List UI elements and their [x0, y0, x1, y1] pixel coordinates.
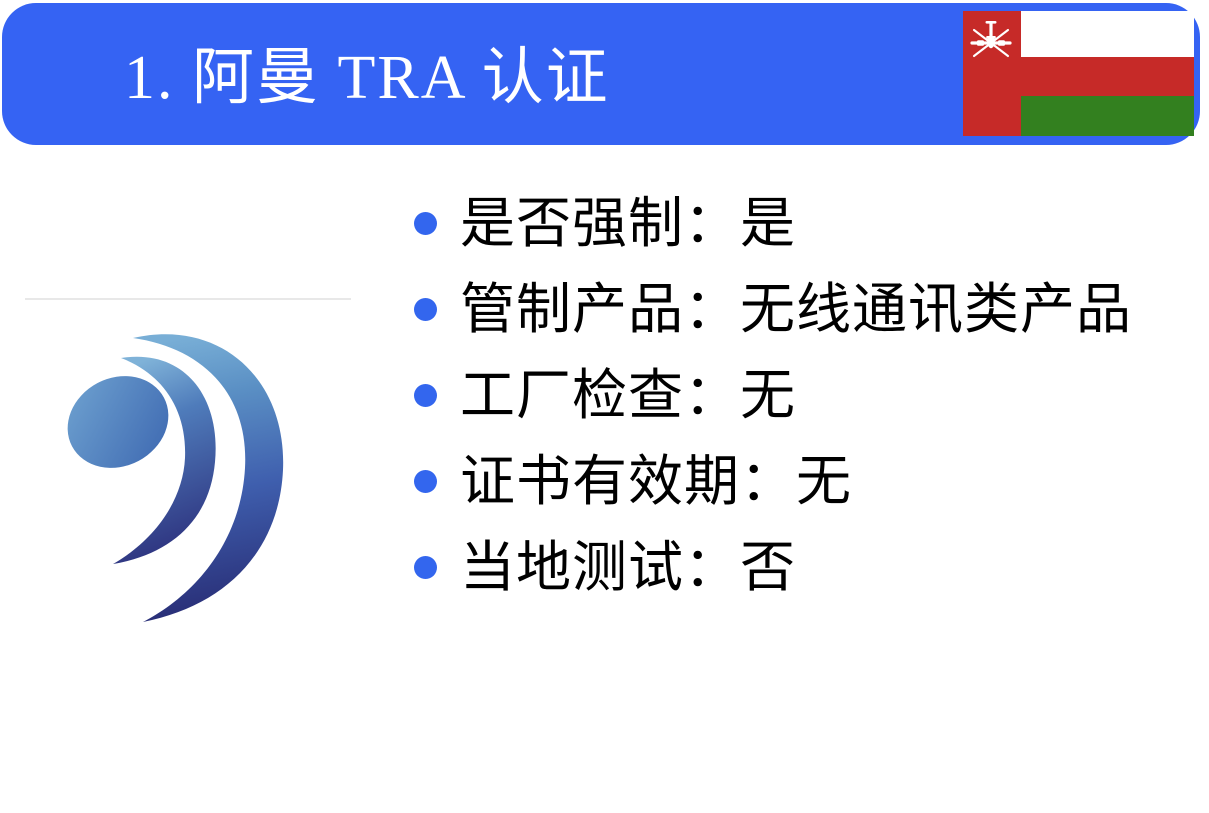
bullet-text: 管制产品：无线通讯类产品 — [460, 276, 1160, 344]
bullet-dot-icon — [414, 384, 437, 407]
slide-root: 1. 阿曼 TRA 认证 — [0, 0, 1209, 813]
bullet-list: 是否强制：是 管制产品：无线通讯类产品 工厂检查：无 证书有效期：无 当地测试：… — [414, 190, 1200, 620]
bullet-dot-icon — [414, 298, 437, 321]
bullet-dot-icon — [414, 212, 437, 235]
list-item: 是否强制：是 — [414, 190, 1200, 258]
khanjar-dagger-crossed-swords-icon — [965, 17, 1017, 69]
list-item: 当地测试：否 — [414, 534, 1200, 602]
bullet-text: 是否强制：是 — [460, 190, 1200, 258]
page-title: 1. 阿曼 TRA 认证 — [124, 33, 964, 123]
list-item: 管制产品：无线通讯类产品 — [414, 276, 1200, 344]
oman-tra-logo-icon — [25, 302, 351, 638]
oman-flag — [963, 11, 1194, 136]
bullet-text: 工厂检查：无 — [460, 362, 1200, 430]
bullet-dot-icon — [414, 556, 437, 579]
list-item: 工厂检查：无 — [414, 362, 1200, 430]
bullet-dot-icon — [414, 470, 437, 493]
logo-image-frame — [25, 298, 351, 638]
bullet-text: 当地测试：否 — [460, 534, 1200, 602]
bullet-text: 证书有效期：无 — [460, 448, 1200, 516]
list-item: 证书有效期：无 — [414, 448, 1200, 516]
